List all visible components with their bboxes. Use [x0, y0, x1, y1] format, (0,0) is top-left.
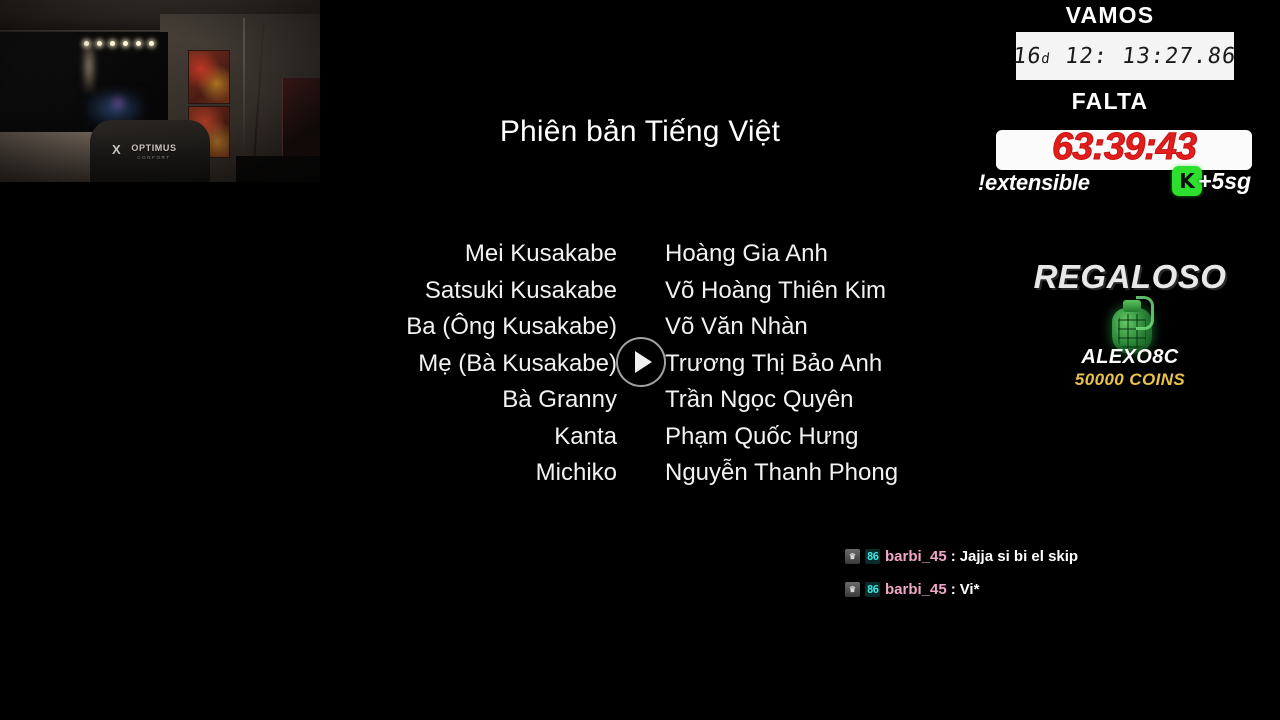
- credits-role: Ba (Ông Kusakabe): [0, 313, 617, 341]
- countdown-panel: VAMOS 16d 12: 13:27.86 FALTA 63:39:43 !e…: [980, 0, 1280, 720]
- gift-alert: REGALOSO ALEXO8C 50000 COINS: [980, 250, 1280, 400]
- grenade-icon: [1106, 292, 1158, 354]
- credits-role: Michiko: [0, 459, 617, 487]
- chat-text: Jajja si bi el skip: [960, 548, 1078, 565]
- timer-days: 16: [1012, 44, 1044, 69]
- credits-role: Mẹ (Bà Kusakabe): [0, 350, 617, 378]
- chat-separator: :: [951, 548, 956, 565]
- credits-role: Kanta: [0, 423, 617, 451]
- elapsed-timer-value: 16d 12: 13:27.86: [1012, 44, 1238, 69]
- stream-overlay-stage: X OPTIMUS CONFORT Phiên bản Tiếng Việt M…: [0, 0, 1280, 720]
- play-button[interactable]: [616, 337, 666, 387]
- credits-role: Mei Kusakabe: [0, 240, 617, 268]
- chat-username[interactable]: barbi_45: [885, 581, 947, 598]
- extensible-command-label: !extensible: [978, 170, 1090, 196]
- chat-username[interactable]: barbi_45: [885, 548, 947, 565]
- play-triangle-icon: [635, 351, 652, 373]
- gift-title: REGALOSO: [980, 258, 1280, 296]
- gift-sender-name: ALEXO8C: [980, 346, 1280, 369]
- timer-clock: 12: 13:27.86: [1064, 44, 1238, 69]
- sub-badge-icon: 86: [865, 582, 880, 597]
- vamos-label: VAMOS: [960, 2, 1260, 29]
- mod-badge-icon: ♛: [845, 582, 860, 597]
- sub-badge-icon: 86: [865, 549, 880, 564]
- credits-role: Bà Granny: [0, 386, 617, 414]
- chat-text: Vi*: [960, 581, 980, 598]
- chat-message: ♛ 86 barbi_45 : Vi*: [845, 573, 1265, 606]
- chat-overlay: ♛ 86 barbi_45 : Jajja si bi el skip ♛ 86…: [845, 540, 1265, 606]
- falta-label: FALTA: [960, 88, 1260, 115]
- mod-badge-icon: ♛: [845, 549, 860, 564]
- bonus-seconds-label: +5sg: [1198, 168, 1251, 195]
- remaining-countdown-value: 63:39:43: [996, 126, 1252, 169]
- chat-separator: :: [951, 581, 956, 598]
- grenade-lever: [1136, 296, 1154, 330]
- elapsed-timer-box: 16d 12: 13:27.86: [1016, 32, 1234, 80]
- gift-amount: 50000 COINS: [980, 370, 1280, 390]
- timer-days-unit: d: [1041, 51, 1052, 67]
- credits-role: Satsuki Kusakabe: [0, 277, 617, 305]
- chat-message: ♛ 86 barbi_45 : Jajja si bi el skip: [845, 540, 1265, 573]
